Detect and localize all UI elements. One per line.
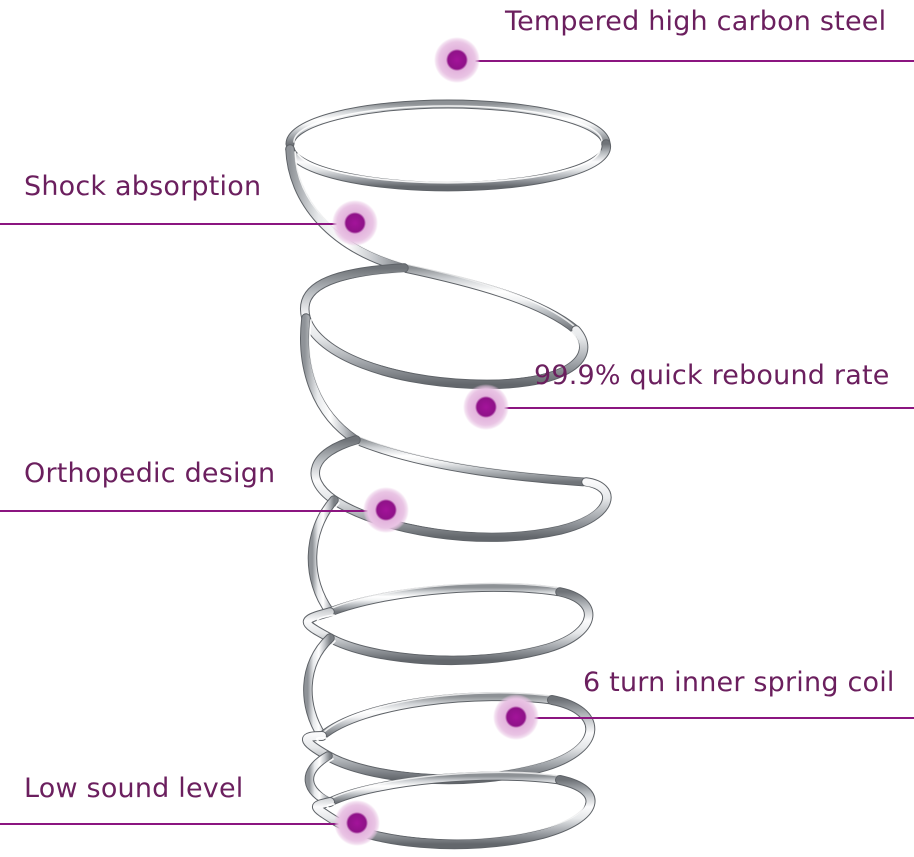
coil-turn-2-back (404, 264, 576, 330)
spring-coil-illustration (0, 0, 914, 857)
callout-leader-line-shock-absorption (0, 223, 343, 225)
coil-turn-3-front (315, 440, 607, 537)
callout-leader-line-quick-rebound-rate (499, 407, 914, 409)
callout-marker-quick-rebound-rate[interactable] (463, 384, 509, 430)
callout-marker-orthopedic-design[interactable] (363, 487, 409, 533)
coil-turn-1-back (290, 104, 606, 144)
coil-link-5 (309, 756, 333, 802)
coil-turn-4-front (308, 592, 589, 660)
coil-link-2 (305, 318, 358, 440)
coil-turn-6-back (330, 772, 560, 802)
callout-marker-tempered-high-carbon-steel[interactable] (434, 37, 480, 83)
callout-leader-line-low-sound-level (0, 823, 345, 825)
callout-marker-inner-spring-coil-turns[interactable] (493, 694, 539, 740)
coil-turn-4-back (330, 583, 560, 612)
callout-marker-low-sound-level[interactable] (334, 800, 380, 846)
callout-label-quick-rebound-rate: 99.9% quick rebound rate (534, 362, 890, 389)
callout-marker-shock-absorption[interactable] (332, 200, 378, 246)
callout-leader-line-inner-spring-coil-turns (529, 717, 914, 719)
callout-label-shock-absorption: Shock absorption (24, 173, 261, 200)
coil-link-4 (308, 638, 335, 736)
callout-label-low-sound-level: Low sound level (24, 775, 244, 802)
coil-turn-5-front (307, 700, 590, 779)
spring-feature-diagram: Tempered high carbon steel Shock absorpt… (0, 0, 914, 857)
callout-leader-line-orthopedic-design (0, 510, 374, 512)
callout-label-inner-spring-coil-turns: 6 turn inner spring coil (583, 669, 895, 696)
coil-turn-3-back (356, 436, 586, 482)
coil-link-3 (312, 500, 339, 612)
callout-leader-line-tempered-high-carbon-steel (470, 60, 914, 62)
callout-label-orthopedic-design: Orthopedic design (24, 460, 275, 487)
callout-label-tempered-high-carbon-steel: Tempered high carbon steel (505, 8, 886, 35)
coil-turn-1-front (290, 144, 606, 187)
